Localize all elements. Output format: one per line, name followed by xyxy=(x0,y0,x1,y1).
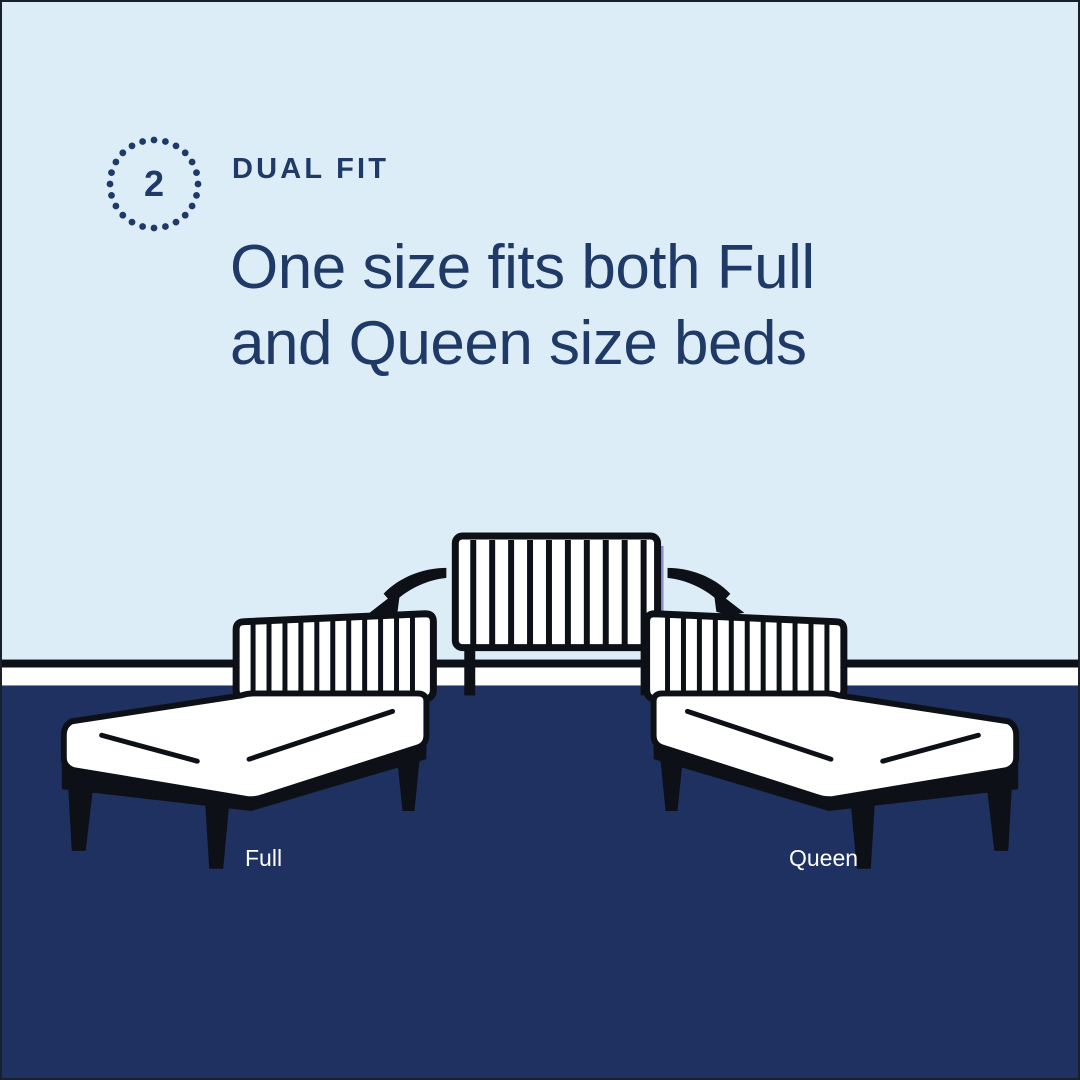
eyebrow-label: DUAL FIT xyxy=(232,154,389,186)
queen-bed-headboard xyxy=(647,614,844,700)
full-bed-headboard xyxy=(236,614,433,700)
headline-line-2: and Queen size beds xyxy=(230,306,930,382)
step-number: 2 xyxy=(106,136,202,232)
step-number-badge: 2 xyxy=(106,136,202,232)
infographic-canvas: 2 DUAL FIT One size fits both Full and Q… xyxy=(0,0,1080,1080)
wall-bottom-edge xyxy=(2,660,1078,668)
headline: One size fits both Full and Queen size b… xyxy=(230,230,930,381)
headline-line-1: One size fits both Full xyxy=(230,230,930,306)
baseboard-strip xyxy=(2,668,1078,688)
full-bed-label: Full xyxy=(245,847,282,870)
queen-bed-label: Queen xyxy=(789,847,858,870)
